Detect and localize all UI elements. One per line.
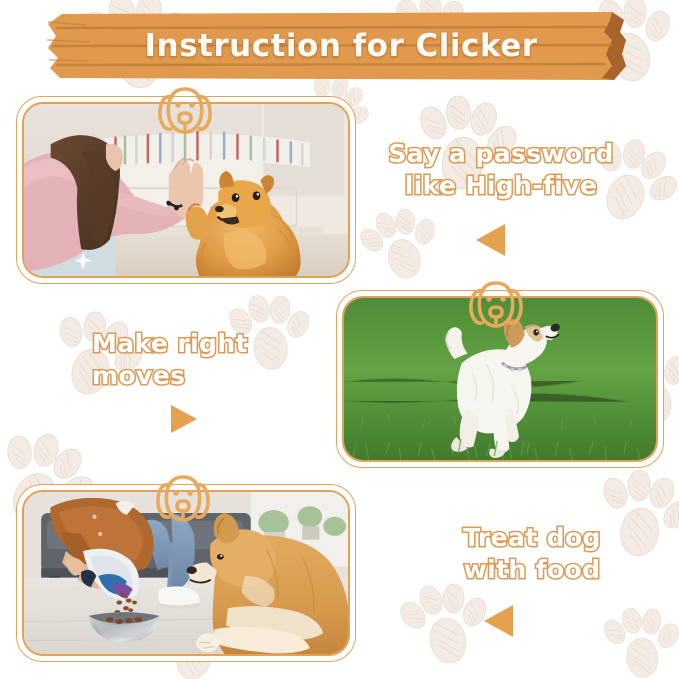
caption-step-3-line-2: with food xyxy=(412,554,652,586)
photo-step-2 xyxy=(344,298,656,460)
caption-step-1-line-1: Say a password xyxy=(366,138,636,170)
caption-step-1-line-2: like High-five xyxy=(366,170,636,202)
page-title: Instruction for Clicker xyxy=(46,10,636,82)
caption-step-3-line-1: Treat dog xyxy=(412,522,652,554)
photo-card-step-1 xyxy=(16,96,356,284)
caption-step-2-line-2: moves xyxy=(92,360,332,392)
photo-frame-step-2 xyxy=(342,296,658,462)
caption-step-1: Say a password like High-five xyxy=(366,138,636,202)
caption-step-3: Treat dog with food xyxy=(412,522,652,586)
caption-step-2: Make right moves xyxy=(92,328,332,392)
photo-frame-step-1 xyxy=(22,102,350,278)
arrow-right-icon-step-2 xyxy=(171,405,197,433)
photo-step-3 xyxy=(24,492,348,654)
caption-step-2-line-1: Make right xyxy=(92,328,332,360)
header-banner: Instruction for Clicker xyxy=(46,10,636,82)
photo-frame-step-3 xyxy=(22,490,350,656)
arrow-left-icon-step-3 xyxy=(484,605,513,637)
photo-step-1 xyxy=(24,104,348,276)
instruction-infographic: Instruction for Clicker xyxy=(0,0,679,679)
arrow-left-icon-step-1 xyxy=(476,224,505,256)
photo-card-step-3 xyxy=(16,484,356,662)
photo-card-step-2 xyxy=(336,290,664,468)
